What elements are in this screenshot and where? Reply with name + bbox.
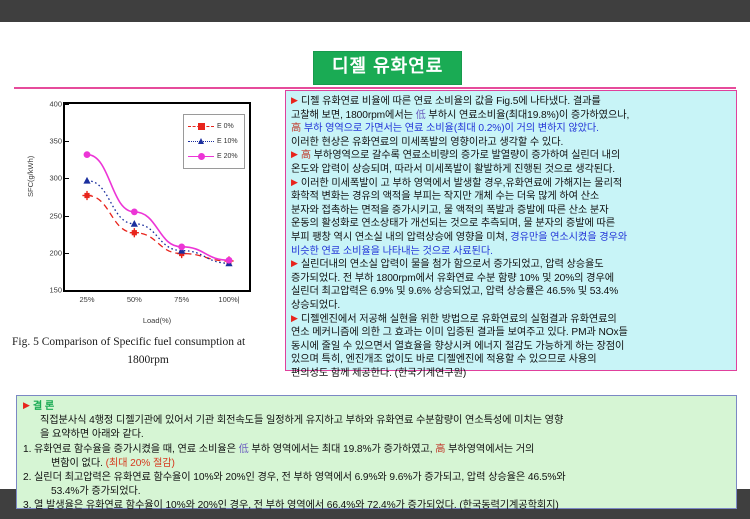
chart-data-point: [84, 151, 91, 158]
text-run: 화학적 변화는 경유의 액적을 부피는 작지만 개체 수는 더욱 많게 하여 산…: [291, 191, 599, 202]
chart-legend-item[interactable]: E 10%: [188, 134, 238, 149]
discussion-panel: ▶디젤 유화연료 비율에 따른 연료 소비율의 값을 Fig.5에 나타냈다. …: [285, 90, 737, 371]
triangle-bullet-icon: ▶: [291, 313, 298, 323]
text-emphasis-blue: 부하 영역으로 가면서는 연료 소비율(최대 0.2%)이 거의 변하지 않았다…: [301, 123, 599, 134]
chart-data-point: [226, 257, 233, 264]
chart-line-e20: [87, 155, 229, 261]
chart-x-tick-label: 25%: [79, 295, 94, 304]
chart-data-point: [82, 191, 91, 200]
triangle-bullet-icon: ▶: [291, 177, 298, 187]
text-run: 동시에 줄일 수 있으면서 열효율을 향상시켜 에너지 절감도 가능하게 하는 …: [291, 341, 624, 352]
text-run: 실린더내의 연소실 압력이 물을 첨가 함으로서 증가되었고, 압력 상승율도: [301, 259, 604, 270]
chart-y-tick-mark: [65, 216, 69, 217]
chart-legend: E 0%E 10%E 20%: [183, 114, 245, 169]
text-emphasis-high-load: 高: [291, 123, 301, 134]
triangle-bullet-icon: ▶: [291, 258, 298, 268]
text-run: 부피 팽창 역시 연소실 내의 압력상승에 영향을 미쳐,: [291, 232, 510, 243]
text-run: 증가되었다. 전 부하 1800rpm에서 유화연료 수분 함량 10% 및 2…: [291, 273, 614, 284]
text-run: 부하영역으로 갈수록 연료소비량의 증가로 발열량이 증가하여 실린더 내의: [311, 150, 620, 161]
text-run: 1. 유화연료 함수율을 증가시켰을 때, 연료 소비율은: [23, 444, 239, 455]
text-run: 편의성도 함께 제공한다. (한국기계연구원): [291, 368, 466, 379]
chart-legend-item[interactable]: E 0%: [188, 119, 238, 134]
triangle-bullet-icon: ▶: [23, 400, 30, 410]
discussion-bullet-line: ▶디젤 유화연료 비율에 따른 연료 소비율의 값을 Fig.5에 나타냈다. …: [291, 95, 731, 109]
conclusion-heading: ▶결 론: [23, 399, 730, 414]
discussion-bullet-line: ▶디젤엔진에서 저공해 실현을 위한 방법으로 유화연료의 실험결과 유화연료의: [291, 313, 731, 327]
conclusion-line: 2. 실린더 최고압력은 유화연료 함수율이 10%와 20%인 경우, 전 부…: [23, 471, 730, 485]
text-run: 3. 열 발생율은 유화연료 함수율이 10%와 20%인 경우, 전 부하 영…: [23, 500, 559, 511]
slide-canvas: 디젤 유화연료 SFC(g/kWh) E 0%E 10%E 20% 150200…: [0, 22, 750, 489]
text-emphasis-blue: 경유만을 연소시켰을 경우와: [510, 232, 627, 243]
chart-legend-swatch: [188, 151, 214, 162]
chart-y-tick-label: 400: [49, 100, 62, 109]
conclusion-line: 변함이 없다. (최대 20% 절감): [23, 457, 730, 471]
text-run: 고찰해 보면, 1800rpm에서는: [291, 110, 416, 121]
text-emphasis-low-load: 低: [416, 110, 426, 121]
discussion-bullet-line: ▶高 부하영역으로 갈수록 연료소비량의 증가로 발열량이 증가하여 실린더 내…: [291, 149, 731, 163]
chart-legend-swatch: [188, 121, 214, 132]
chart-data-point: [130, 228, 139, 237]
text-emphasis-high-load: 高: [435, 444, 445, 455]
text-run: 디젤 유화연료 비율에 따른 연료 소비율의 값을 Fig.5에 나타냈다. 결…: [301, 96, 601, 107]
chart-y-tick-label: 350: [49, 137, 62, 146]
discussion-line: 있으며 특히, 엔진개조 없이도 바로 디젤엔진에 적용할 수 있으므로 사용의: [291, 353, 731, 367]
chart-legend-label: E 20%: [217, 153, 238, 160]
chart-y-tick-mark: [65, 253, 69, 254]
text-emphasis-high-load: 高: [301, 150, 311, 161]
chart-y-axis-label: SFC(g/kWh): [26, 156, 35, 197]
discussion-line: 연소 메커니즘에 의한 그 효과는 이미 입증된 결과들 보여주고 있다. PM…: [291, 326, 731, 340]
text-emphasis-blue: 비슷한 연료 소비율을 나타내는 것으로 사료된다.: [291, 246, 493, 257]
page-title: 디젤 유화연료: [313, 51, 462, 85]
discussion-line: 온도와 압력이 상승되며, 따라서 미세폭발이 활발하게 진행된 것으로 생각된…: [291, 163, 731, 177]
text-run: 디젤엔진에서 저공해 실현을 위한 방법으로 유화연료의 실험결과 유화연료의: [301, 314, 617, 325]
top-chrome-bar: [0, 0, 750, 22]
conclusion-line: 3. 열 발생율은 유화연료 함수율이 10%와 20%인 경우, 전 부하 영…: [23, 499, 730, 513]
chart-data-point: [178, 243, 185, 250]
text-run: 부하 영역에서는 최대 19.8%가 증가하였고,: [249, 444, 436, 455]
discussion-line: 실린더 최고압력은 6.9% 및 9.6% 상승되었고, 압력 상승률은 46.…: [291, 285, 731, 299]
chart-y-tick-label: 250: [49, 211, 62, 220]
conclusion-line: 직접분사식 4행정 디젤기관에 있어서 기관 회전속도들 일정하게 유지하고 부…: [23, 414, 730, 428]
chart-legend-swatch: [188, 136, 214, 147]
figure-caption-line1: Fig. 5 Comparison of Specific fuel consu…: [12, 336, 245, 348]
discussion-line: 운동의 활성화로 연소상태가 개선되는 것으로 추측되며, 물 분자의 증발에 …: [291, 217, 731, 231]
conclusion-line: 53.4%가 증가되었다.: [23, 485, 730, 499]
text-run: 변함이 없다.: [51, 458, 106, 469]
discussion-line: 편의성도 함께 제공한다. (한국기계연구원): [291, 367, 731, 381]
text-run: 직접분사식 4행정 디젤기관에 있어서 기관 회전속도들 일정하게 유지하고 부…: [40, 415, 563, 426]
text-run: 부하시 연료소비율(최대19.8%)이 증가하였으나,: [426, 110, 630, 121]
chart-legend-marker: [198, 138, 204, 144]
chart-x-tick-label: 100%|: [218, 295, 239, 304]
conclusion-heading-text: 결 론: [33, 401, 54, 412]
text-run: 연소 메커니즘에 의한 그 효과는 이미 입증된 결과들 보여주고 있다. PM…: [291, 327, 628, 338]
text-run: 53.4%가 증가되었다.: [51, 486, 140, 497]
discussion-line: 고찰해 보면, 1800rpm에서는 低 부하시 연료소비율(최대19.8%)이…: [291, 109, 731, 123]
chart-y-tick-label: 150: [49, 286, 62, 295]
text-run: 2. 실린더 최고압력은 유화연료 함수율이 10%와 20%인 경우, 전 부…: [23, 472, 566, 483]
chart-legend-marker: [198, 153, 205, 160]
discussion-bullet-line: ▶이러한 미세폭발이 고 부하 영역에서 발생할 경우,유화연료에 가해지는 물…: [291, 177, 731, 191]
page-title-text: 디젤 유화연료: [332, 56, 443, 76]
discussion-line: 비슷한 연료 소비율을 나타내는 것으로 사료된다.: [291, 245, 731, 259]
discussion-bullet-line: ▶실린더내의 연소실 압력이 물을 첨가 함으로서 증가되었고, 압력 상승율도: [291, 258, 731, 272]
discussion-line: 증가되었다. 전 부하 1800rpm에서 유화연료 수분 함량 10% 및 2…: [291, 272, 731, 286]
chart-legend-item[interactable]: E 20%: [188, 149, 238, 164]
chart-x-tick-label: 75%: [174, 295, 189, 304]
chart-plot-area: E 0%E 10%E 20% 15020025030035040025%50%7…: [63, 102, 251, 292]
text-emphasis-red: (최대 20% 절감): [106, 458, 175, 469]
chart-x-tick-label: 50%: [127, 295, 142, 304]
chart-y-tick-mark: [65, 178, 69, 179]
chart-line-e10: [87, 181, 229, 264]
text-run: 을 요약하면 아래와 같다.: [40, 429, 144, 440]
text-run: 온도와 압력이 상승되며, 따라서 미세폭발이 활발하게 진행된 것으로 생각된…: [291, 164, 615, 175]
text-run: 운동의 활성화로 연소상태가 개선되는 것으로 추측되며, 물 분자의 증발에 …: [291, 218, 615, 229]
text-run: 이러한 현상은 유화연료의 미세폭발의 영향이라고 생각할 수 있다.: [291, 137, 563, 148]
chart-data-point: [131, 220, 138, 227]
discussion-line: 高 부하 영역으로 가면서는 연료 소비율(최대 0.2%)이 거의 변하지 않…: [291, 122, 731, 136]
chart-legend-marker: [198, 123, 205, 130]
conclusion-line: 1. 유화연료 함수율을 증가시켰을 때, 연료 소비율은 低 부하 영역에서는…: [23, 443, 730, 457]
chart-y-tick-mark: [65, 141, 69, 142]
discussion-line: 동시에 줄일 수 있으면서 열효율을 향상시켜 에너지 절감도 가능하게 하는 …: [291, 340, 731, 354]
conclusion-panel: ▶결 론직접분사식 4행정 디젤기관에 있어서 기관 회전속도들 일정하게 유지…: [16, 395, 737, 509]
chart-data-point: [83, 177, 90, 184]
title-divider: [14, 87, 736, 89]
figure-5-chart: SFC(g/kWh) E 0%E 10%E 20% 15020025030035…: [8, 94, 278, 394]
text-emphasis-low-load: 低: [239, 444, 249, 455]
text-run: 분자와 접촉하는 면적을 증가시키고, 물 액적의 폭발과 증발에 따른 산소 …: [291, 205, 608, 216]
text-run: 실린더 최고압력은 6.9% 및 9.6% 상승되었고, 압력 상승률은 46.…: [291, 286, 618, 297]
discussion-line: 이러한 현상은 유화연료의 미세폭발의 영향이라고 생각할 수 있다.: [291, 136, 731, 150]
figure-caption-line2: 1800rpm: [12, 352, 284, 370]
discussion-line: 상승되었다.: [291, 299, 731, 313]
figure-caption: Fig. 5 Comparison of Specific fuel consu…: [12, 334, 284, 370]
text-run: 부하영역에서는 거의: [445, 444, 534, 455]
chart-y-tick-label: 200: [49, 248, 62, 257]
discussion-line: 분자와 접촉하는 면적을 증가시키고, 물 액적의 폭발과 증발에 따른 산소 …: [291, 204, 731, 218]
chart-y-tick-mark: [65, 104, 69, 105]
discussion-line: 화학적 변화는 경유의 액적을 부피는 작지만 개체 수는 더욱 많게 하여 산…: [291, 190, 731, 204]
chart-y-tick-label: 300: [49, 174, 62, 183]
discussion-line: 부피 팽창 역시 연소실 내의 압력상승에 영향을 미쳐, 경유만을 연소시켰을…: [291, 231, 731, 245]
conclusion-line: 을 요약하면 아래와 같다.: [23, 428, 730, 442]
chart-legend-label: E 0%: [217, 123, 234, 130]
chart-x-axis-label: Load(%): [63, 316, 251, 325]
text-run: 상승되었다.: [291, 300, 340, 311]
text-run: 이러한 미세폭발이 고 부하 영역에서 발생할 경우,유화연료에 가해지는 물리…: [301, 178, 622, 189]
triangle-bullet-icon: ▶: [291, 95, 298, 105]
text-run: 있으며 특히, 엔진개조 없이도 바로 디젤엔진에 적용할 수 있으므로 사용의: [291, 354, 596, 365]
chart-data-point: [131, 208, 138, 215]
chart-legend-label: E 10%: [217, 138, 238, 145]
triangle-bullet-icon: ▶: [291, 149, 298, 159]
